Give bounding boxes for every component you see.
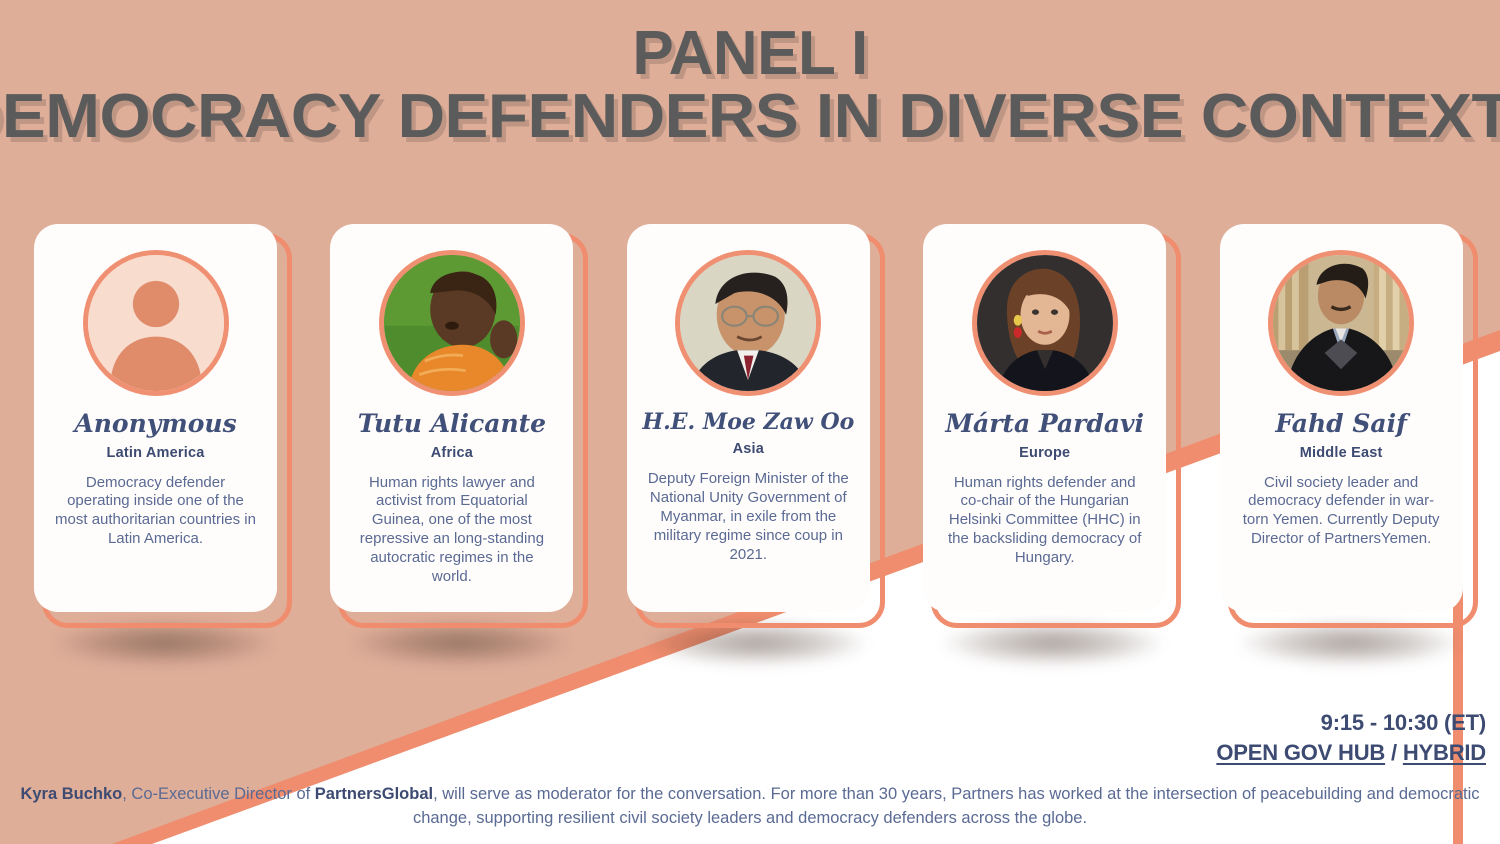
card-body: Márta Pardavi Europe Human rights defend…	[923, 224, 1166, 612]
speaker-bio: Democracy defender operating inside one …	[48, 474, 263, 550]
speaker-cards-row: Anonymous Latin America Democracy defend…	[34, 224, 1474, 644]
speaker-name: Fahd Saif	[1234, 410, 1449, 438]
page-title: PANEL I DEMOCRACY DEFENDERS IN DIVERSE C…	[0, 22, 1500, 148]
venue-separator: /	[1385, 740, 1403, 765]
portrait-photo	[977, 255, 1113, 391]
speaker-region: Latin America	[48, 445, 263, 461]
speaker-region: Asia	[641, 441, 856, 457]
portrait-photo	[384, 255, 520, 391]
title-line-subject: DEMOCRACY DEFENDERS IN DIVERSE CONTEXTS	[0, 85, 1500, 148]
anonymous-silhouette-icon	[88, 255, 224, 391]
speaker-bio: Human rights lawyer and activist from Eq…	[344, 474, 559, 587]
venue-primary-link[interactable]: OPEN GOV HUB	[1216, 740, 1385, 765]
card-body: Fahd Saif Middle East Civil society lead…	[1220, 224, 1463, 612]
moderator-name: Kyra Buchko	[20, 785, 122, 803]
speaker-card[interactable]: Tutu Alicante Africa Human rights lawyer…	[330, 224, 584, 624]
speaker-name: Anonymous	[48, 410, 263, 438]
speaker-card[interactable]: H.E. Moe Zaw Oo Asia Deputy Foreign Mini…	[627, 224, 881, 624]
avatar	[972, 250, 1118, 396]
card-body: Tutu Alicante Africa Human rights lawyer…	[330, 224, 573, 612]
moderator-note: Kyra Buchko, Co-Executive Director of Pa…	[0, 783, 1500, 831]
venue-secondary-link[interactable]: HYBRID	[1403, 740, 1486, 765]
speaker-card[interactable]: Anonymous Latin America Democracy defend…	[34, 224, 288, 624]
speaker-bio: Civil society leader and democracy defen…	[1234, 474, 1449, 550]
speaker-region: Africa	[344, 445, 559, 461]
speaker-name: H.E. Moe Zaw Oo	[641, 410, 856, 434]
event-venue: OPEN GOV HUB / HYBRID	[1216, 740, 1486, 766]
moderator-note-segment-1: , Co-Executive Director of	[122, 785, 315, 803]
speaker-bio: Deputy Foreign Minister of the National …	[641, 470, 856, 564]
card-body: Anonymous Latin America Democracy defend…	[34, 224, 277, 612]
card-body: H.E. Moe Zaw Oo Asia Deputy Foreign Mini…	[627, 224, 870, 612]
moderator-note-segment-2: , will serve as moderator for the conver…	[413, 785, 1480, 827]
speaker-card[interactable]: Márta Pardavi Europe Human rights defend…	[923, 224, 1177, 624]
event-meta: 9:15 - 10:30 (ET) OPEN GOV HUB / HYBRID	[1216, 710, 1486, 766]
avatar	[1268, 250, 1414, 396]
portrait-photo	[680, 255, 816, 391]
avatar	[379, 250, 525, 396]
title-line-panel: PANEL I	[0, 22, 1500, 85]
organization-name: PartnersGlobal	[315, 785, 433, 803]
speaker-name: Tutu Alicante	[344, 410, 559, 438]
speaker-card[interactable]: Fahd Saif Middle East Civil society lead…	[1220, 224, 1474, 624]
event-time: 9:15 - 10:30 (ET)	[1216, 710, 1486, 736]
avatar	[675, 250, 821, 396]
speaker-region: Middle East	[1234, 445, 1449, 461]
portrait-photo	[1273, 255, 1409, 391]
speaker-bio: Human rights defender and co-chair of th…	[937, 474, 1152, 568]
speaker-name: Márta Pardavi	[937, 410, 1152, 438]
speaker-region: Europe	[937, 445, 1152, 461]
avatar	[83, 250, 229, 396]
